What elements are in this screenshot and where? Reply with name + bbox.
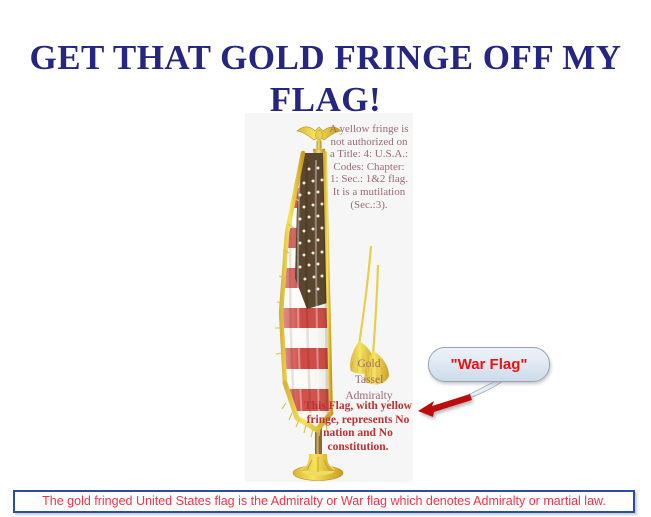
- callout-label: "War Flag": [428, 347, 550, 382]
- figure-note-warning: This Flag, with yellow fringe, represent…: [303, 400, 413, 454]
- page-title: GET THAT GOLD FRINGE OFF MY FLAG!: [0, 37, 651, 121]
- caption-text: The gold fringed United States flag is t…: [15, 492, 633, 511]
- figure-note-tassel: Gold Tassel Admiralty: [329, 356, 409, 404]
- figure-note-statute: A yellow fringe is not authorized on a T…: [329, 123, 409, 211]
- red-pointer-arrow: [410, 392, 476, 422]
- flag-figure: A yellow fringe is not authorized on a T…: [245, 113, 413, 482]
- flag-stand-base: [293, 454, 343, 481]
- caption-box: The gold fringed United States flag is t…: [13, 490, 635, 513]
- war-flag-callout: "War Flag": [428, 347, 550, 382]
